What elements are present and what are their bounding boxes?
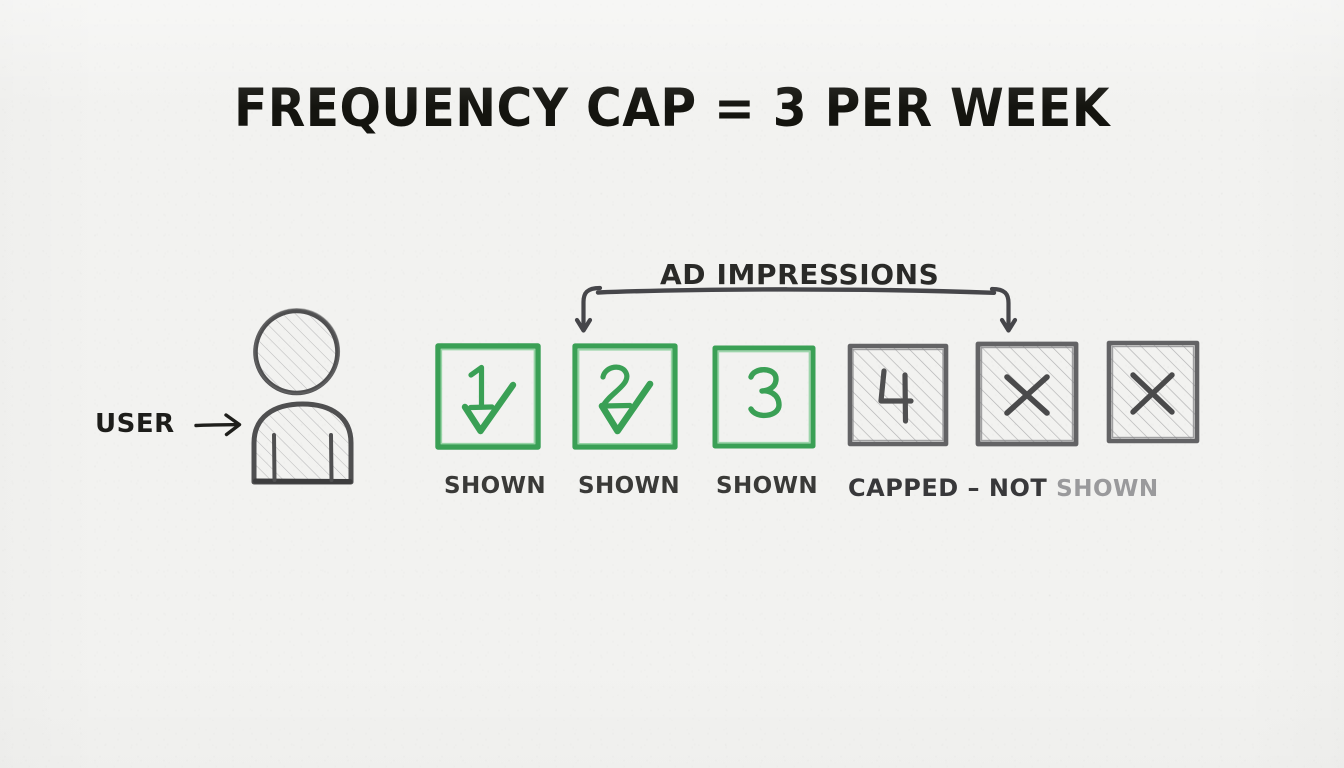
impression-box-5[interactable] [972, 338, 1082, 452]
impression-box-4[interactable] [844, 341, 952, 451]
impression-box-3[interactable] [710, 343, 818, 451]
impression-caption-1: SHOWN [444, 473, 546, 499]
capped-caption-strong: CAPPED – NOT [848, 474, 1047, 502]
impression-box-2[interactable] [570, 341, 680, 453]
impression-box-2-content [570, 341, 680, 453]
page-title: FREQUENCY CAP = 3 PER WEEK [54, 78, 1290, 139]
impression-box-3-content [710, 343, 818, 451]
impression-caption-2: SHOWN [578, 473, 680, 499]
user-label: USER [95, 409, 175, 439]
impression-box-1[interactable] [433, 341, 543, 453]
user-person-icon [243, 300, 388, 505]
impression-box-1-content [433, 341, 543, 453]
capped-caption-faded: SHOWN [1056, 476, 1159, 502]
diagram-canvas: FREQUENCY CAP = 3 PER WEEK USER [0, 0, 1344, 768]
impression-box-6-content [1104, 338, 1202, 448]
impression-box-5-content [972, 338, 1082, 452]
capped-caption: CAPPED – NOT SHOWN [848, 474, 1159, 502]
span-bracket-double-arrow-icon [570, 282, 1030, 349]
impression-box-4-content [844, 341, 952, 451]
impression-box-6[interactable] [1104, 338, 1202, 448]
impression-caption-3: SHOWN [716, 473, 818, 499]
